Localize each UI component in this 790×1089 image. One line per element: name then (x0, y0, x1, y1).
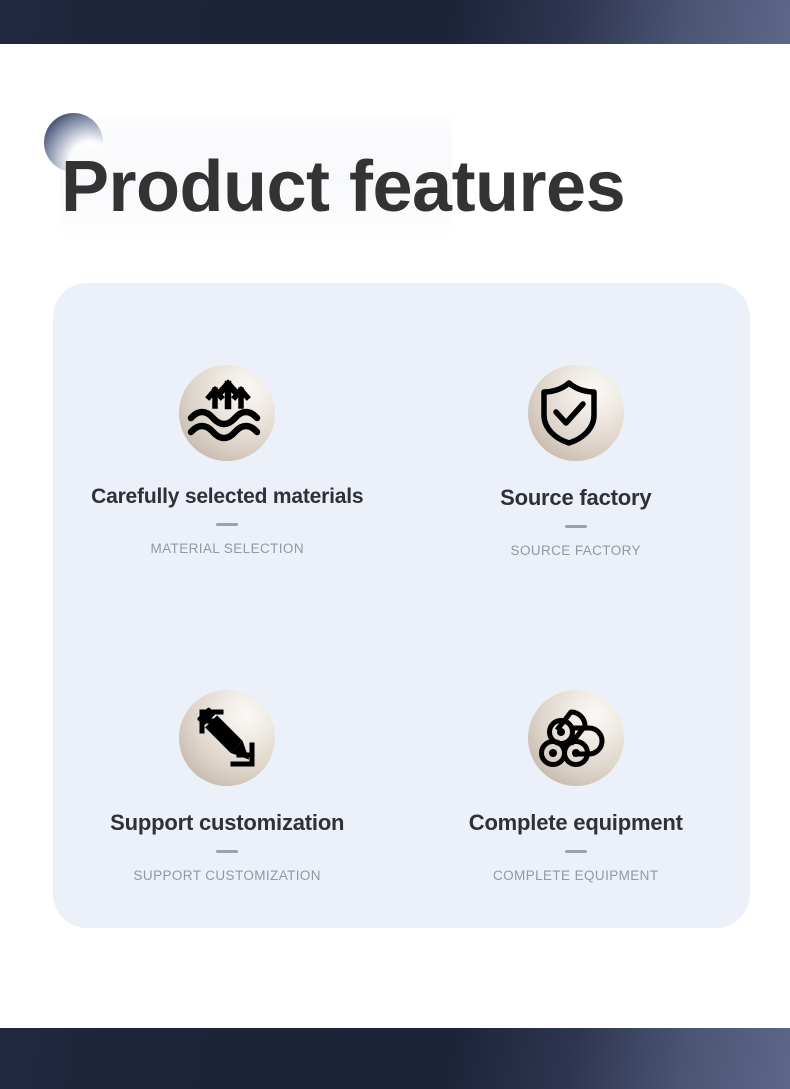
feature-item-source-factory[interactable]: Source factory SOURCE FACTORY (402, 283, 751, 606)
feature-item-material-selection[interactable]: Carefully selected materials MATERIAL SE… (53, 283, 402, 606)
rollers-equipment-icon (528, 690, 624, 786)
feature-title: Carefully selected materials (91, 485, 363, 509)
feature-item-complete-equipment[interactable]: Complete equipment COMPLETE EQUIPMENT (402, 606, 751, 929)
product-features-page: Product features Carefully selected m (0, 0, 790, 1089)
page-title: Product features (61, 144, 625, 230)
title-divider (565, 850, 587, 853)
feature-item-support-customization[interactable]: Support customization SUPPORT CUSTOMIZAT… (53, 606, 402, 929)
title-divider (216, 523, 238, 526)
top-accent-bar (0, 0, 790, 44)
feature-subtitle: SUPPORT CUSTOMIZATION (134, 868, 321, 883)
title-divider (216, 850, 238, 853)
feature-title: Complete equipment (469, 810, 683, 836)
feature-subtitle: SOURCE FACTORY (511, 543, 641, 558)
bottom-accent-bar (0, 1028, 790, 1089)
feature-card: Carefully selected materials MATERIAL SE… (53, 283, 750, 928)
feature-title: Source factory (500, 485, 651, 511)
shield-check-icon (528, 365, 624, 461)
title-divider (565, 525, 587, 528)
feature-grid: Carefully selected materials MATERIAL SE… (53, 283, 750, 928)
moisture-wicking-icon (179, 365, 275, 461)
feature-subtitle: MATERIAL SELECTION (151, 541, 304, 556)
feature-title: Support customization (110, 810, 344, 836)
pencil-edit-icon (179, 690, 275, 786)
feature-subtitle: COMPLETE EQUIPMENT (493, 868, 658, 883)
